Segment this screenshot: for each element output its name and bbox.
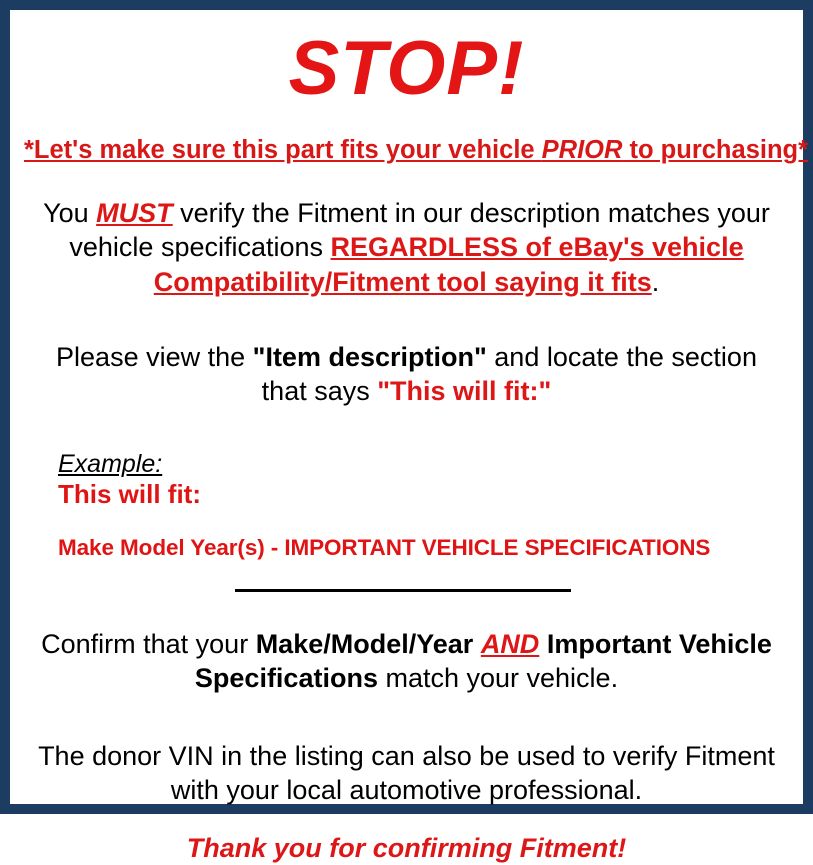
tagline-prefix: *Let's make sure this part fits your veh…	[24, 136, 542, 164]
confirm-emphasis-and: AND	[481, 629, 540, 659]
confirm-paragraph: Confirm that your Make/Model/Year AND Im…	[24, 627, 789, 696]
fitment-notice-card: STOP! *Let's make sure this part fits yo…	[0, 0, 813, 814]
item-description-paragraph: Please view the "Item description" and l…	[24, 340, 789, 409]
example-fit-heading: This will fit:	[58, 479, 789, 510]
confirm-seg-1: Confirm that your	[41, 629, 256, 659]
view-emphasis-this-will-fit: "This will fit:"	[377, 376, 551, 406]
confirm-seg-3	[539, 629, 547, 659]
example-spec-line: Make Model Year(s) - IMPORTANT VEHICLE S…	[58, 534, 789, 561]
tagline-suffix: to purchasing*	[622, 136, 808, 164]
page-title: STOP!	[24, 31, 789, 107]
confirm-seg-2	[473, 629, 481, 659]
section-divider-wrap	[24, 589, 789, 595]
example-block: Example: This will fit: Make Model Year(…	[24, 450, 789, 561]
section-divider	[235, 589, 571, 592]
must-seg-1: You	[43, 198, 96, 228]
confirm-seg-4: match your vehicle.	[378, 663, 618, 693]
must-verify-paragraph: You MUST verify the Fitment in our descr…	[24, 196, 789, 299]
must-emphasis-must: MUST	[96, 198, 173, 228]
view-seg-1: Please view the	[56, 342, 253, 372]
confirm-emphasis-make-model-year: Make/Model/Year	[256, 629, 474, 659]
view-emphasis-item-description: "Item description"	[253, 342, 487, 372]
must-seg-3: .	[652, 267, 660, 297]
tagline-banner: *Let's make sure this part fits your veh…	[24, 136, 789, 164]
notice-content: STOP! *Let's make sure this part fits yo…	[10, 10, 803, 804]
tagline-emphasis-prior: PRIOR	[542, 136, 623, 164]
donor-vin-paragraph: The donor VIN in the listing can also be…	[24, 739, 789, 808]
thank-you-message: Thank you for confirming Fitment!	[24, 832, 789, 864]
example-label: Example:	[58, 450, 789, 478]
